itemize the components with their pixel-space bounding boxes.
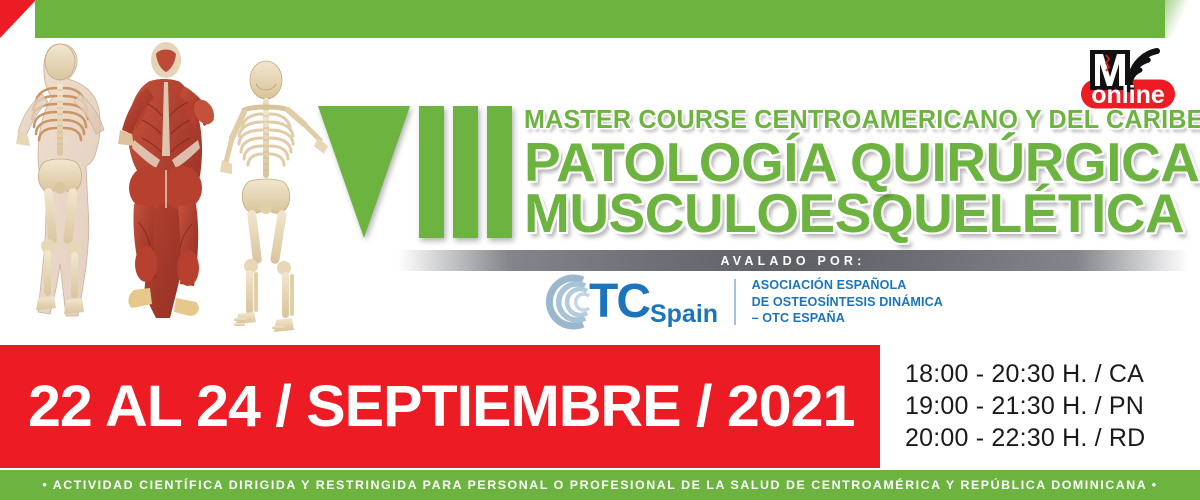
anatomy-running-figures	[8, 36, 338, 342]
otc-spain-endorser[interactable]: TC Spain ASOCIACIÓN ESPAÑOLA DE OSTEOSÍN…	[533, 274, 943, 330]
figure-muscular-body	[118, 42, 218, 318]
title-main-line-2: MUSCULOESQUELÉTICA	[524, 188, 1184, 239]
endorsement-bar: AVALADO POR:	[398, 250, 1188, 271]
otc-description-line-2: DE OSTEOSÍNTESIS DINÁMICA	[752, 294, 943, 311]
top-green-bar	[35, 0, 1165, 38]
top-left-red-triangle	[0, 0, 36, 38]
schedule-line-pn: 19:00 - 21:30 H. / PN	[905, 390, 1195, 422]
otc-spain-text: Spain	[650, 302, 718, 327]
otc-description-line-3: – OTC ESPAÑA	[752, 310, 943, 327]
otc-description: ASOCIACIÓN ESPAÑOLA DE OSTEOSÍNTESIS DIN…	[752, 277, 943, 327]
disclaimer-bar: • ACTIVIDAD CIENTÍFICA DIRIGIDA Y RESTRI…	[0, 470, 1200, 500]
ms-online-logo[interactable]: online	[1078, 44, 1182, 110]
otc-description-line-1: ASOCIACIÓN ESPAÑOLA	[752, 277, 943, 294]
event-date-text: 22 AL 24 / SEPTIEMBRE / 2021	[28, 373, 854, 440]
disclaimer-text: • ACTIVIDAD CIENTÍFICA DIRIGIDA Y RESTRI…	[42, 478, 1157, 492]
numeral-i-2	[453, 106, 478, 238]
event-title: MASTER COURSE CENTROAMERICANO Y DEL CARI…	[524, 108, 1184, 239]
otc-spain-logo: TC Spain	[533, 274, 718, 330]
otc-divider	[734, 279, 736, 325]
numeral-i-1	[419, 106, 444, 238]
figure-skeleton	[220, 61, 328, 332]
conference-banner: online	[0, 0, 1200, 500]
numeral-i-3	[487, 106, 512, 238]
endorsement-label: AVALADO POR:	[720, 254, 865, 268]
otc-tc-text: TC	[589, 278, 649, 326]
title-main-line-1: PATOLOGÍA QUIRÚRGICA	[524, 137, 1184, 188]
edition-numeral	[318, 106, 512, 238]
otc-arcs-icon	[533, 274, 595, 330]
schedule-line-rd: 20:00 - 22:30 H. / RD	[905, 422, 1195, 454]
svg-text:online: online	[1091, 81, 1165, 109]
event-schedule: 18:00 - 20:30 H. / CA 19:00 - 21:30 H. /…	[905, 358, 1195, 454]
event-date-bar: 22 AL 24 / SEPTIEMBRE / 2021	[0, 345, 880, 468]
schedule-line-ca: 18:00 - 20:30 H. / CA	[905, 358, 1195, 390]
figure-translucent-body	[16, 44, 104, 316]
top-green-bar-fade	[1120, 0, 1200, 38]
numeral-v	[318, 106, 410, 238]
